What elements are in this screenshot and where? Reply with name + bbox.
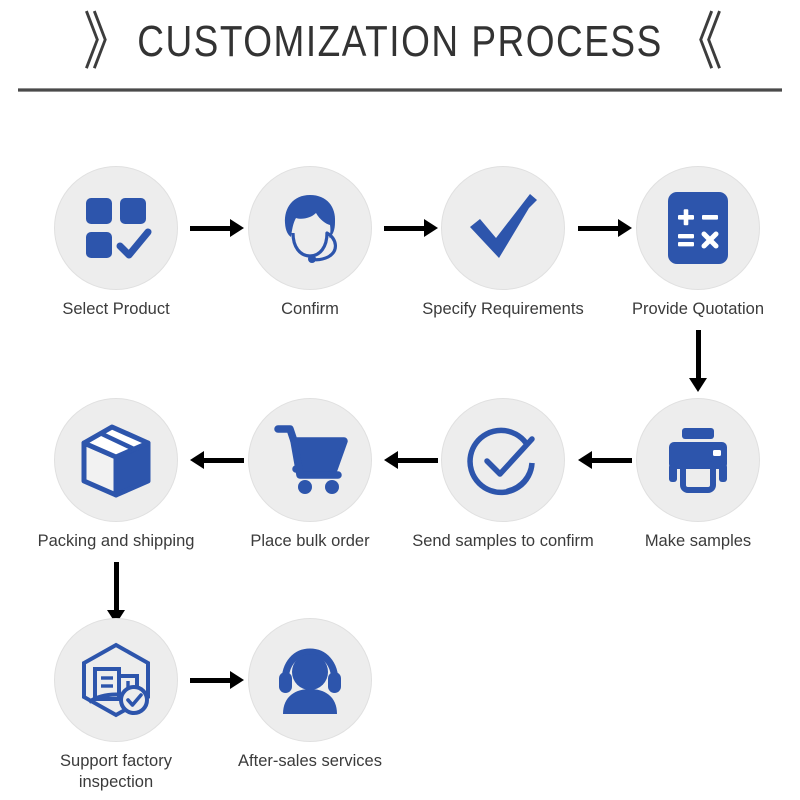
flow-step-confirm[interactable]: Confirm (225, 166, 395, 320)
step-icon-circle (636, 166, 760, 290)
step-label: Packing and shipping (1, 531, 231, 552)
flow-step-after-sales-services[interactable]: After-sales services (225, 618, 395, 772)
step-icon-circle (441, 166, 565, 290)
flow-step-select-product[interactable]: Select Product (31, 166, 201, 320)
step-icon-circle (248, 398, 372, 522)
package-box-icon (76, 421, 156, 499)
step-label: Support factory inspection (31, 751, 201, 793)
step-icon-circle (54, 618, 178, 742)
step-icon-circle (54, 166, 178, 290)
step-icon-circle (248, 166, 372, 290)
step-icon-circle (54, 398, 178, 522)
support-person-icon (271, 644, 349, 716)
calculator-icon (662, 188, 734, 268)
checkmark-icon (463, 188, 543, 268)
step-label: Place bulk order (225, 531, 395, 552)
step-label: Send samples to confirm (388, 531, 618, 552)
arrow-step8-to-step9 (106, 562, 126, 624)
step-label: Provide Quotation (583, 299, 800, 320)
step-icon-circle (636, 398, 760, 522)
headset-agent-icon (271, 189, 349, 267)
flow-step-support-factory-inspection[interactable]: Support factory inspection (31, 618, 201, 793)
step-label: Confirm (225, 299, 395, 320)
step-label: Make samples (613, 531, 783, 552)
step-label: Select Product (31, 299, 201, 320)
flow-step-send-samples-to-confirm[interactable]: Send samples to confirm (418, 398, 588, 552)
grid-check-icon (80, 192, 152, 264)
process-flow-diagram: Select Product Confirm (0, 0, 800, 800)
check-circle-icon (464, 421, 542, 499)
flow-step-packing-and-shipping[interactable]: Packing and shipping (31, 398, 201, 552)
flow-step-place-bulk-order[interactable]: Place bulk order (225, 398, 395, 552)
flow-step-provide-quotation[interactable]: Provide Quotation (613, 166, 783, 320)
shopping-cart-icon (270, 423, 350, 497)
arrow-step4-to-step5 (688, 330, 708, 392)
step-icon-circle (441, 398, 565, 522)
printer-icon (659, 424, 737, 496)
flow-step-specify-requirements[interactable]: Specify Requirements (418, 166, 588, 320)
factory-audit-icon (76, 640, 156, 720)
step-icon-circle (248, 618, 372, 742)
step-label: After-sales services (195, 751, 425, 772)
flow-step-make-samples[interactable]: Make samples (613, 398, 783, 552)
